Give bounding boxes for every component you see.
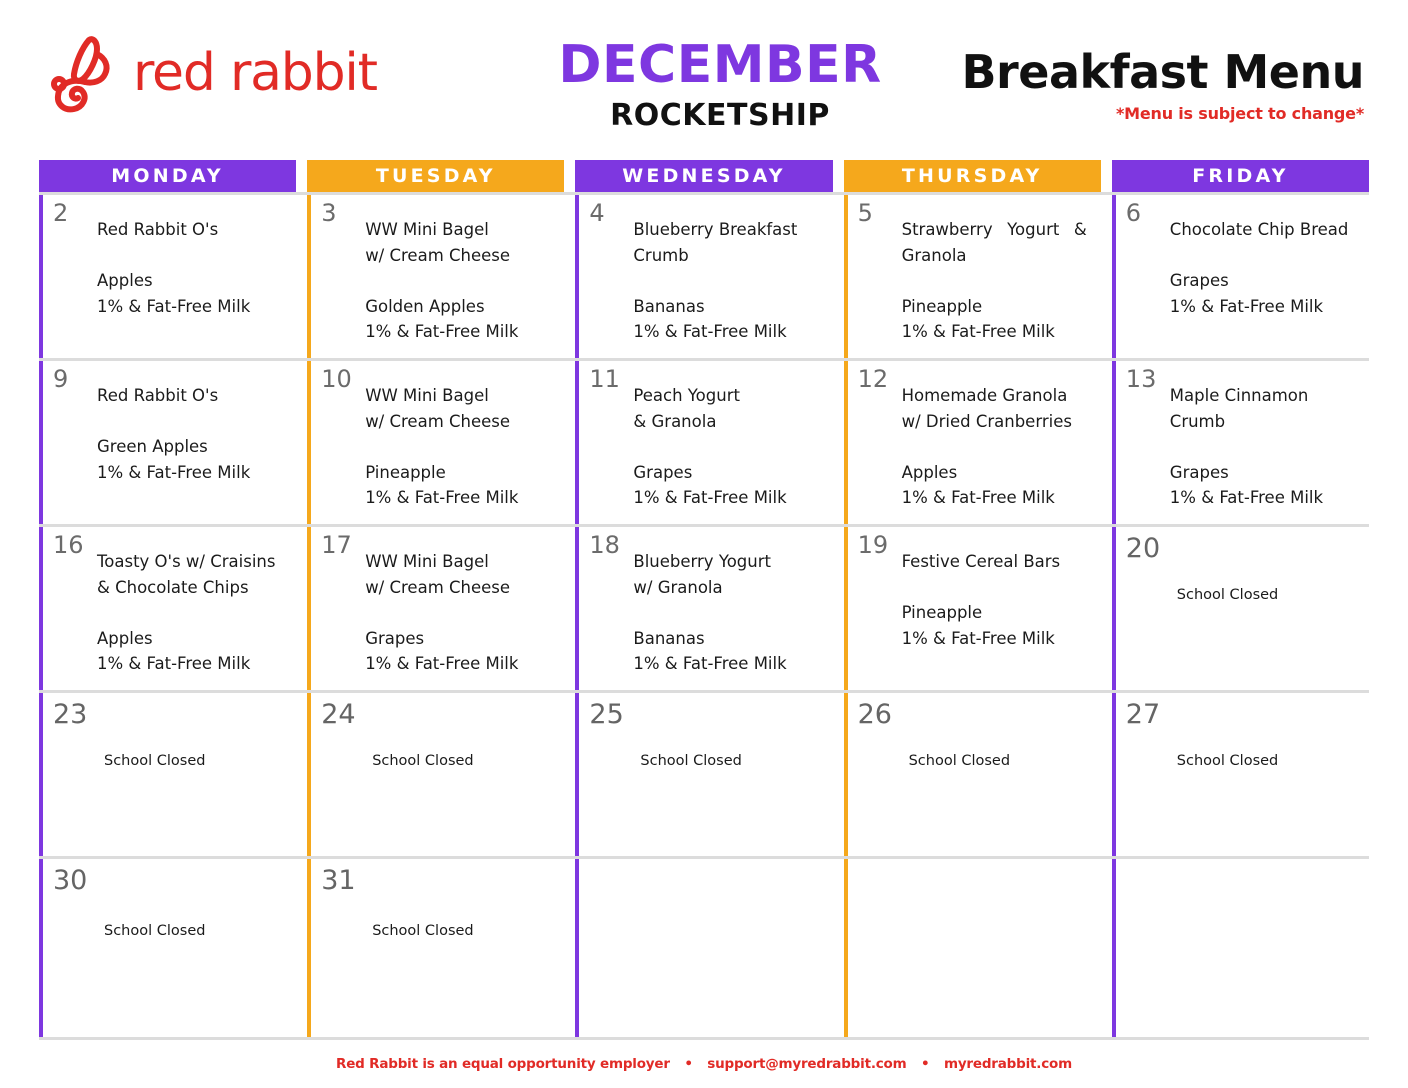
month-title-block: DECEMBER ROCKETSHIP	[500, 38, 940, 133]
calendar-week-row: 9 Red Rabbit O's Green Apples 1% & Fat-F…	[39, 358, 1369, 524]
day-number: 9	[53, 367, 68, 391]
calendar-day-cell[interactable]: 20 School Closed	[1112, 527, 1369, 690]
school-closed-label: School Closed	[640, 751, 824, 773]
menu-calendar: MONDAY TUESDAY WEDNESDAY THURSDAY FRIDAY…	[39, 160, 1369, 1040]
day-number: 10	[321, 367, 352, 391]
day-number: 2	[53, 201, 68, 225]
menu-items: Maple Cinnamon Crumb Grapes 1% & Fat-Fre…	[1170, 383, 1361, 511]
menu-items: Festive Cereal Bars Pineapple 1% & Fat-F…	[902, 549, 1093, 651]
equal-opportunity-text: Red Rabbit is an equal opportunity emplo…	[336, 1056, 670, 1072]
school-closed-label: School Closed	[1177, 751, 1361, 773]
calendar-day-cell[interactable]: 3 WW Mini Bagel w/ Cream Cheese Golden A…	[307, 195, 564, 358]
school-closed-label: School Closed	[372, 751, 556, 773]
calendar-week-row: 23 School Closed 24 School Closed 25 Sch…	[39, 690, 1369, 856]
day-number: 4	[589, 201, 604, 225]
meal-title: Breakfast Menu	[962, 48, 1365, 96]
day-number: 16	[53, 533, 84, 557]
calendar-day-cell[interactable]: 24 School Closed	[307, 693, 564, 856]
day-number: 18	[589, 533, 620, 557]
menu-items: Blueberry Yogurt w/ Granola Bananas 1% &…	[633, 549, 824, 677]
calendar-week-row: 16 Toasty O's w/ Craisins & Chocolate Ch…	[39, 524, 1369, 690]
support-email-link[interactable]: support@myredrabbit.com	[707, 1056, 906, 1072]
day-number: 6	[1126, 201, 1141, 225]
menu-items: Toasty O's w/ Craisins & Chocolate Chips…	[97, 549, 288, 677]
calendar-day-cell[interactable]: 12 Homemade Granola w/ Dried Cranberries…	[844, 361, 1101, 524]
school-closed-label: School Closed	[104, 751, 288, 773]
day-number: 19	[858, 533, 889, 557]
calendar-day-cell[interactable]: 30 School Closed	[39, 859, 296, 1037]
day-number: 17	[321, 533, 352, 557]
calendar-day-cell[interactable]: 16 Toasty O's w/ Craisins & Chocolate Ch…	[39, 527, 296, 690]
footer-separator: •	[921, 1056, 929, 1072]
calendar-day-cell[interactable]: 26 School Closed	[844, 693, 1101, 856]
calendar-day-cell[interactable]: 31 School Closed	[307, 859, 564, 1037]
menu-items: WW Mini Bagel w/ Cream Cheese Golden App…	[365, 217, 556, 345]
brand-name: red rabbit	[133, 47, 377, 99]
day-number: 26	[858, 701, 892, 728]
day-number: 25	[589, 701, 623, 728]
day-number: 27	[1126, 701, 1160, 728]
menu-items: WW Mini Bagel w/ Cream Cheese Grapes 1% …	[365, 549, 556, 677]
website-link[interactable]: myredrabbit.com	[944, 1056, 1072, 1072]
calendar-day-cell[interactable]: 4 Blueberry Breakfast Crumb Bananas 1% &…	[575, 195, 832, 358]
day-number: 5	[858, 201, 873, 225]
calendar-day-cell[interactable]: 25 School Closed	[575, 693, 832, 856]
brand-logo: red rabbit	[45, 32, 377, 114]
menu-items: Red Rabbit O's Apples 1% & Fat-Free Milk	[97, 217, 288, 319]
footer-separator: •	[684, 1056, 692, 1072]
school-closed-label: School Closed	[909, 751, 1093, 773]
day-number: 20	[1126, 535, 1160, 562]
calendar-day-cell[interactable]: 5 Strawberry Yogurt & Granola Pineapple …	[844, 195, 1101, 358]
day-header-monday: MONDAY	[39, 160, 296, 192]
calendar-week-row: 30 School Closed 31 School Closed	[39, 856, 1369, 1040]
calendar-day-cell[interactable]: 13 Maple Cinnamon Crumb Grapes 1% & Fat-…	[1112, 361, 1369, 524]
calendar-day-cell[interactable]: 11 Peach Yogurt & Granola Grapes 1% & Fa…	[575, 361, 832, 524]
calendar-day-cell[interactable]: 9 Red Rabbit O's Green Apples 1% & Fat-F…	[39, 361, 296, 524]
day-number: 13	[1126, 367, 1157, 391]
page-footer: Red Rabbit is an equal opportunity emplo…	[0, 1056, 1408, 1072]
page-header: red rabbit DECEMBER ROCKETSHIP Breakfast…	[0, 0, 1408, 160]
calendar-week-row: 2 Red Rabbit O's Apples 1% & Fat-Free Mi…	[39, 192, 1369, 358]
menu-items: Homemade Granola w/ Dried Cranberries Ap…	[902, 383, 1093, 511]
day-number: 12	[858, 367, 889, 391]
meal-title-block: Breakfast Menu *Menu is subject to chang…	[962, 48, 1365, 123]
school-closed-label: School Closed	[1177, 585, 1361, 607]
menu-items: Red Rabbit O's Green Apples 1% & Fat-Fre…	[97, 383, 288, 485]
day-number: 31	[321, 867, 355, 894]
rabbit-icon	[45, 32, 123, 114]
calendar-day-cell[interactable]: 17 WW Mini Bagel w/ Cream Cheese Grapes …	[307, 527, 564, 690]
day-number: 11	[589, 367, 620, 391]
day-number: 23	[53, 701, 87, 728]
day-number: 24	[321, 701, 355, 728]
menu-items: Strawberry Yogurt & Granola Pineapple 1%…	[902, 217, 1087, 345]
calendar-day-cell[interactable]: 18 Blueberry Yogurt w/ Granola Bananas 1…	[575, 527, 832, 690]
school-closed-label: School Closed	[104, 921, 288, 943]
calendar-day-cell[interactable]: 19 Festive Cereal Bars Pineapple 1% & Fa…	[844, 527, 1101, 690]
school-closed-label: School Closed	[372, 921, 556, 943]
menu-items: Chocolate Chip Bread Grapes 1% & Fat-Fre…	[1170, 217, 1361, 319]
calendar-day-cell[interactable]: 2 Red Rabbit O's Apples 1% & Fat-Free Mi…	[39, 195, 296, 358]
month-title: DECEMBER	[500, 38, 940, 92]
calendar-day-cell[interactable]	[844, 859, 1101, 1037]
calendar-day-cell[interactable]: 23 School Closed	[39, 693, 296, 856]
school-name: ROCKETSHIP	[500, 98, 940, 133]
calendar-day-cell[interactable]: 27 School Closed	[1112, 693, 1369, 856]
day-header-thursday: THURSDAY	[844, 160, 1101, 192]
menu-items: Blueberry Breakfast Crumb Bananas 1% & F…	[633, 217, 824, 345]
day-number: 30	[53, 867, 87, 894]
day-header-wednesday: WEDNESDAY	[575, 160, 832, 192]
menu-items: WW Mini Bagel w/ Cream Cheese Pineapple …	[365, 383, 556, 511]
calendar-day-cell[interactable]: 10 WW Mini Bagel w/ Cream Cheese Pineapp…	[307, 361, 564, 524]
calendar-day-cell[interactable]: 6 Chocolate Chip Bread Grapes 1% & Fat-F…	[1112, 195, 1369, 358]
day-of-week-header-row: MONDAY TUESDAY WEDNESDAY THURSDAY FRIDAY	[39, 160, 1369, 192]
calendar-day-cell[interactable]	[1112, 859, 1369, 1037]
day-header-friday: FRIDAY	[1112, 160, 1369, 192]
day-number: 3	[321, 201, 336, 225]
menu-disclaimer: *Menu is subject to change*	[962, 104, 1365, 123]
calendar-day-cell[interactable]	[575, 859, 832, 1037]
day-header-tuesday: TUESDAY	[307, 160, 564, 192]
menu-items: Peach Yogurt & Granola Grapes 1% & Fat-F…	[633, 383, 824, 511]
